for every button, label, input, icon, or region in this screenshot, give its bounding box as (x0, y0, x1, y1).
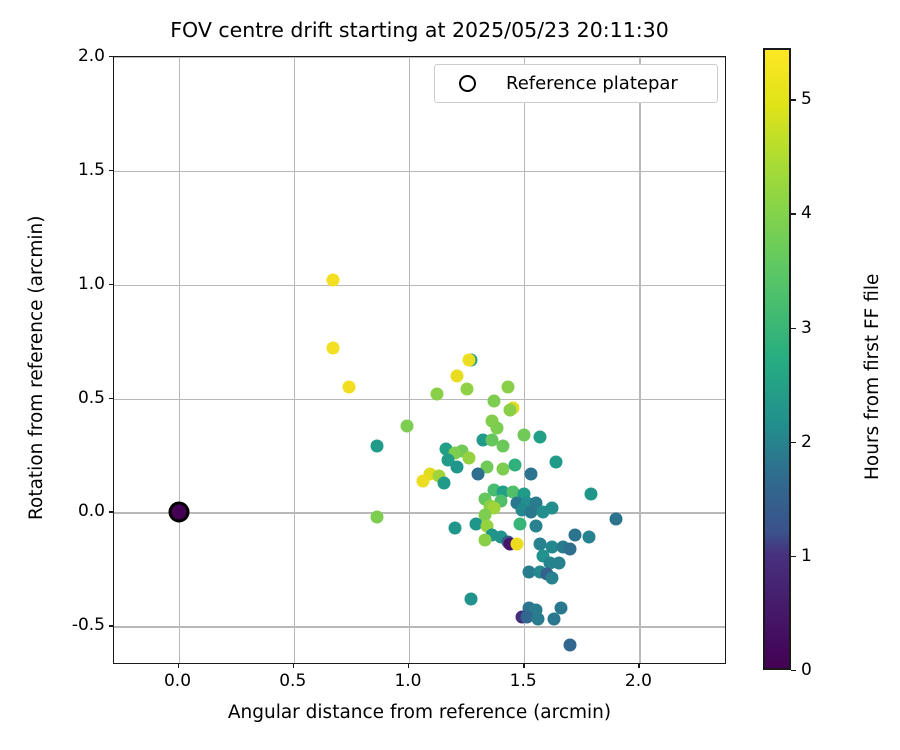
scatter-point (497, 440, 510, 453)
scatter-point (451, 460, 464, 473)
y-tick-label: 0.5 (78, 388, 105, 408)
scatter-point (513, 517, 526, 530)
scatter-point (585, 488, 598, 501)
scatter-point (488, 394, 501, 407)
scatter-point (449, 522, 462, 535)
scatter-point (416, 474, 429, 487)
gridline-horizontal (114, 57, 725, 58)
figure-canvas: FOV centre drift starting at 2025/05/23 … (0, 0, 900, 750)
y-tick-mark (109, 398, 113, 399)
scatter-point (462, 353, 475, 366)
colorbar-tick-mark (791, 328, 796, 329)
colorbar-label: Hours from first FF file (862, 274, 883, 480)
scatter-point (532, 613, 545, 626)
y-tick-label: 0.0 (78, 501, 105, 521)
gridline-horizontal (114, 171, 725, 172)
y-tick-mark (109, 625, 113, 626)
x-tick-label: 1.0 (394, 671, 421, 691)
x-axis-label: Angular distance from reference (arcmin) (113, 702, 726, 723)
y-tick-label: 2.0 (78, 46, 105, 66)
y-tick-mark (109, 284, 113, 285)
scatter-point (451, 369, 464, 382)
reference-platepar-marker-icon (459, 75, 476, 92)
scatter-point (430, 388, 443, 401)
scatter-point (370, 510, 383, 523)
gridline-horizontal (114, 399, 725, 400)
scatter-point (545, 572, 558, 585)
scatter-point (472, 467, 485, 480)
colorbar-tick-label: 3 (801, 318, 812, 338)
gridline-vertical (409, 57, 410, 663)
y-tick-label: 1.5 (78, 160, 105, 180)
colorbar-tick-label: 5 (801, 89, 812, 109)
x-tick-label: 2.0 (625, 671, 652, 691)
x-tick-mark (408, 664, 409, 668)
x-tick-mark (523, 664, 524, 668)
scatter-point (508, 458, 521, 471)
plot-area (113, 56, 726, 664)
scatter-point (437, 476, 450, 489)
scatter-point (370, 440, 383, 453)
scatter-point (326, 274, 339, 287)
scatter-point (529, 520, 542, 533)
scatter-point (536, 506, 549, 519)
x-tick-mark (293, 664, 294, 668)
chart-title: FOV centre drift starting at 2025/05/23 … (113, 18, 726, 42)
scatter-point (343, 381, 356, 394)
y-tick-mark (109, 170, 113, 171)
scatter-point (518, 429, 531, 442)
colorbar-tick-mark (791, 556, 796, 557)
scatter-point (326, 342, 339, 355)
scatter-point (504, 403, 517, 416)
y-tick-label: 1.0 (78, 274, 105, 294)
colorbar-tick-mark (791, 213, 796, 214)
scatter-point (534, 431, 547, 444)
colorbar-tick-label: 0 (801, 660, 812, 680)
reference-platepar-point (168, 502, 189, 523)
y-tick-mark (109, 511, 113, 512)
x-tick-mark (178, 664, 179, 668)
scatter-point (582, 531, 595, 544)
scatter-point (548, 613, 561, 626)
gridline-horizontal (114, 285, 725, 286)
colorbar-tick-label: 4 (801, 203, 812, 223)
scatter-point (564, 542, 577, 555)
y-axis-label: Rotation from reference (arcmin) (26, 216, 47, 520)
scatter-point (525, 467, 538, 480)
gridline-horizontal (114, 512, 725, 513)
x-tick-mark (638, 664, 639, 668)
scatter-point (552, 556, 565, 569)
scatter-point (479, 533, 492, 546)
colorbar-tick-mark (791, 442, 796, 443)
legend: Reference platepar (434, 64, 718, 103)
colorbar (763, 48, 791, 670)
scatter-point (511, 538, 524, 551)
scatter-point (568, 529, 581, 542)
y-tick-mark (109, 56, 113, 57)
y-tick-label: -0.5 (72, 615, 105, 635)
scatter-point (462, 451, 475, 464)
scatter-point (550, 456, 563, 469)
colorbar-tick-mark (791, 670, 796, 671)
colorbar-tick-label: 1 (801, 546, 812, 566)
scatter-point (465, 592, 478, 605)
gridline-vertical (294, 57, 295, 663)
x-tick-label: 1.5 (510, 671, 537, 691)
gridline-vertical (639, 57, 640, 663)
scatter-point (564, 638, 577, 651)
scatter-point (400, 419, 413, 432)
scatter-point (460, 383, 473, 396)
legend-entry-label: Reference platepar (506, 73, 678, 94)
scatter-point (502, 381, 515, 394)
gridline-horizontal (114, 626, 725, 627)
x-tick-label: 0.0 (164, 671, 191, 691)
scatter-point (610, 513, 623, 526)
x-tick-label: 0.5 (279, 671, 306, 691)
colorbar-tick-label: 2 (801, 432, 812, 452)
gridline-vertical (179, 57, 180, 663)
colorbar-tick-mark (791, 99, 796, 100)
